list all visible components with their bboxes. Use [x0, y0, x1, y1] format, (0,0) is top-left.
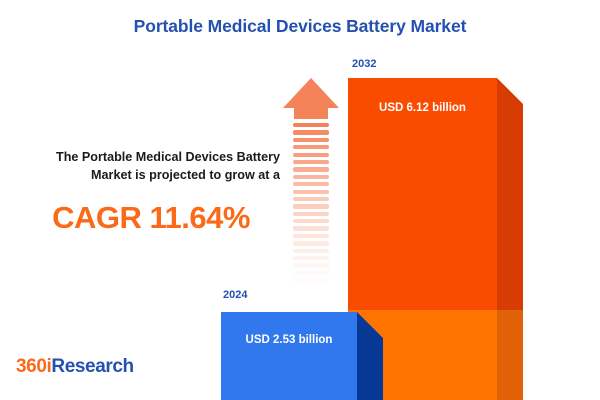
arrow-shaft-stripe: [293, 249, 329, 253]
arrow-shaft-stripe: [293, 226, 329, 230]
arrow-neck-shape: [294, 108, 328, 119]
arrow-shaft-stripe: [293, 175, 329, 179]
arrow-shaft-stripe: [293, 204, 329, 208]
arrow-shaft-stripe: [293, 212, 329, 216]
arrow-shaft-stripe: [293, 130, 329, 134]
growth-description: The Portable Medical Devices Battery Mar…: [22, 148, 280, 185]
arrow-shaft-stripe: [293, 145, 329, 149]
arrow-shaft-stripe: [293, 271, 329, 275]
growth-arrow-up-icon: [283, 78, 339, 290]
bar-2032-side-face-upper: [497, 78, 523, 310]
bar-2032-year-label: 2032: [352, 58, 376, 70]
bar-2024-year-label: 2024: [223, 289, 247, 301]
page-title: Portable Medical Devices Battery Market: [0, 16, 600, 37]
arrow-shaft-stripe: [293, 160, 329, 164]
bar-2024-front-face: [221, 312, 357, 400]
arrow-shaft-stripes: [293, 123, 329, 290]
arrow-shaft-stripe: [293, 197, 329, 201]
arrow-shaft-stripe: [293, 278, 329, 282]
arrow-shaft-stripe: [293, 234, 329, 238]
arrow-shaft-stripe: [293, 182, 329, 186]
arrow-shaft-stripe: [293, 263, 329, 267]
arrow-shaft-stripe: [293, 167, 329, 171]
bar-2024-side-face: [357, 312, 383, 400]
arrow-shaft-stripe: [293, 138, 329, 142]
bar-2024-value-label: USD 2.53 billion: [221, 334, 357, 346]
arrow-shaft-stripe: [293, 123, 329, 127]
logo-text-360: 360: [16, 356, 47, 377]
infographic-canvas: Portable Medical Devices Battery Market …: [0, 0, 600, 400]
arrow-shaft-stripe: [293, 153, 329, 157]
logo-text-research: Research: [51, 356, 133, 377]
arrow-shaft-stripe: [293, 256, 329, 260]
cagr-highlight: CAGR 11.64%: [22, 200, 280, 236]
arrow-shaft-stripe: [293, 190, 329, 194]
bar-2024: 2024 USD 2.53 billion: [221, 312, 383, 400]
bar-2032-side-face-lower: [497, 310, 523, 400]
arrow-shaft-stripe: [293, 219, 329, 223]
arrow-shaft-stripe: [293, 286, 329, 290]
arrow-head-shape: [283, 78, 339, 108]
brand-logo: 360iResearch: [16, 356, 134, 378]
arrow-shaft-stripe: [293, 241, 329, 245]
bar-2032-value-label: USD 6.12 billion: [348, 102, 497, 114]
